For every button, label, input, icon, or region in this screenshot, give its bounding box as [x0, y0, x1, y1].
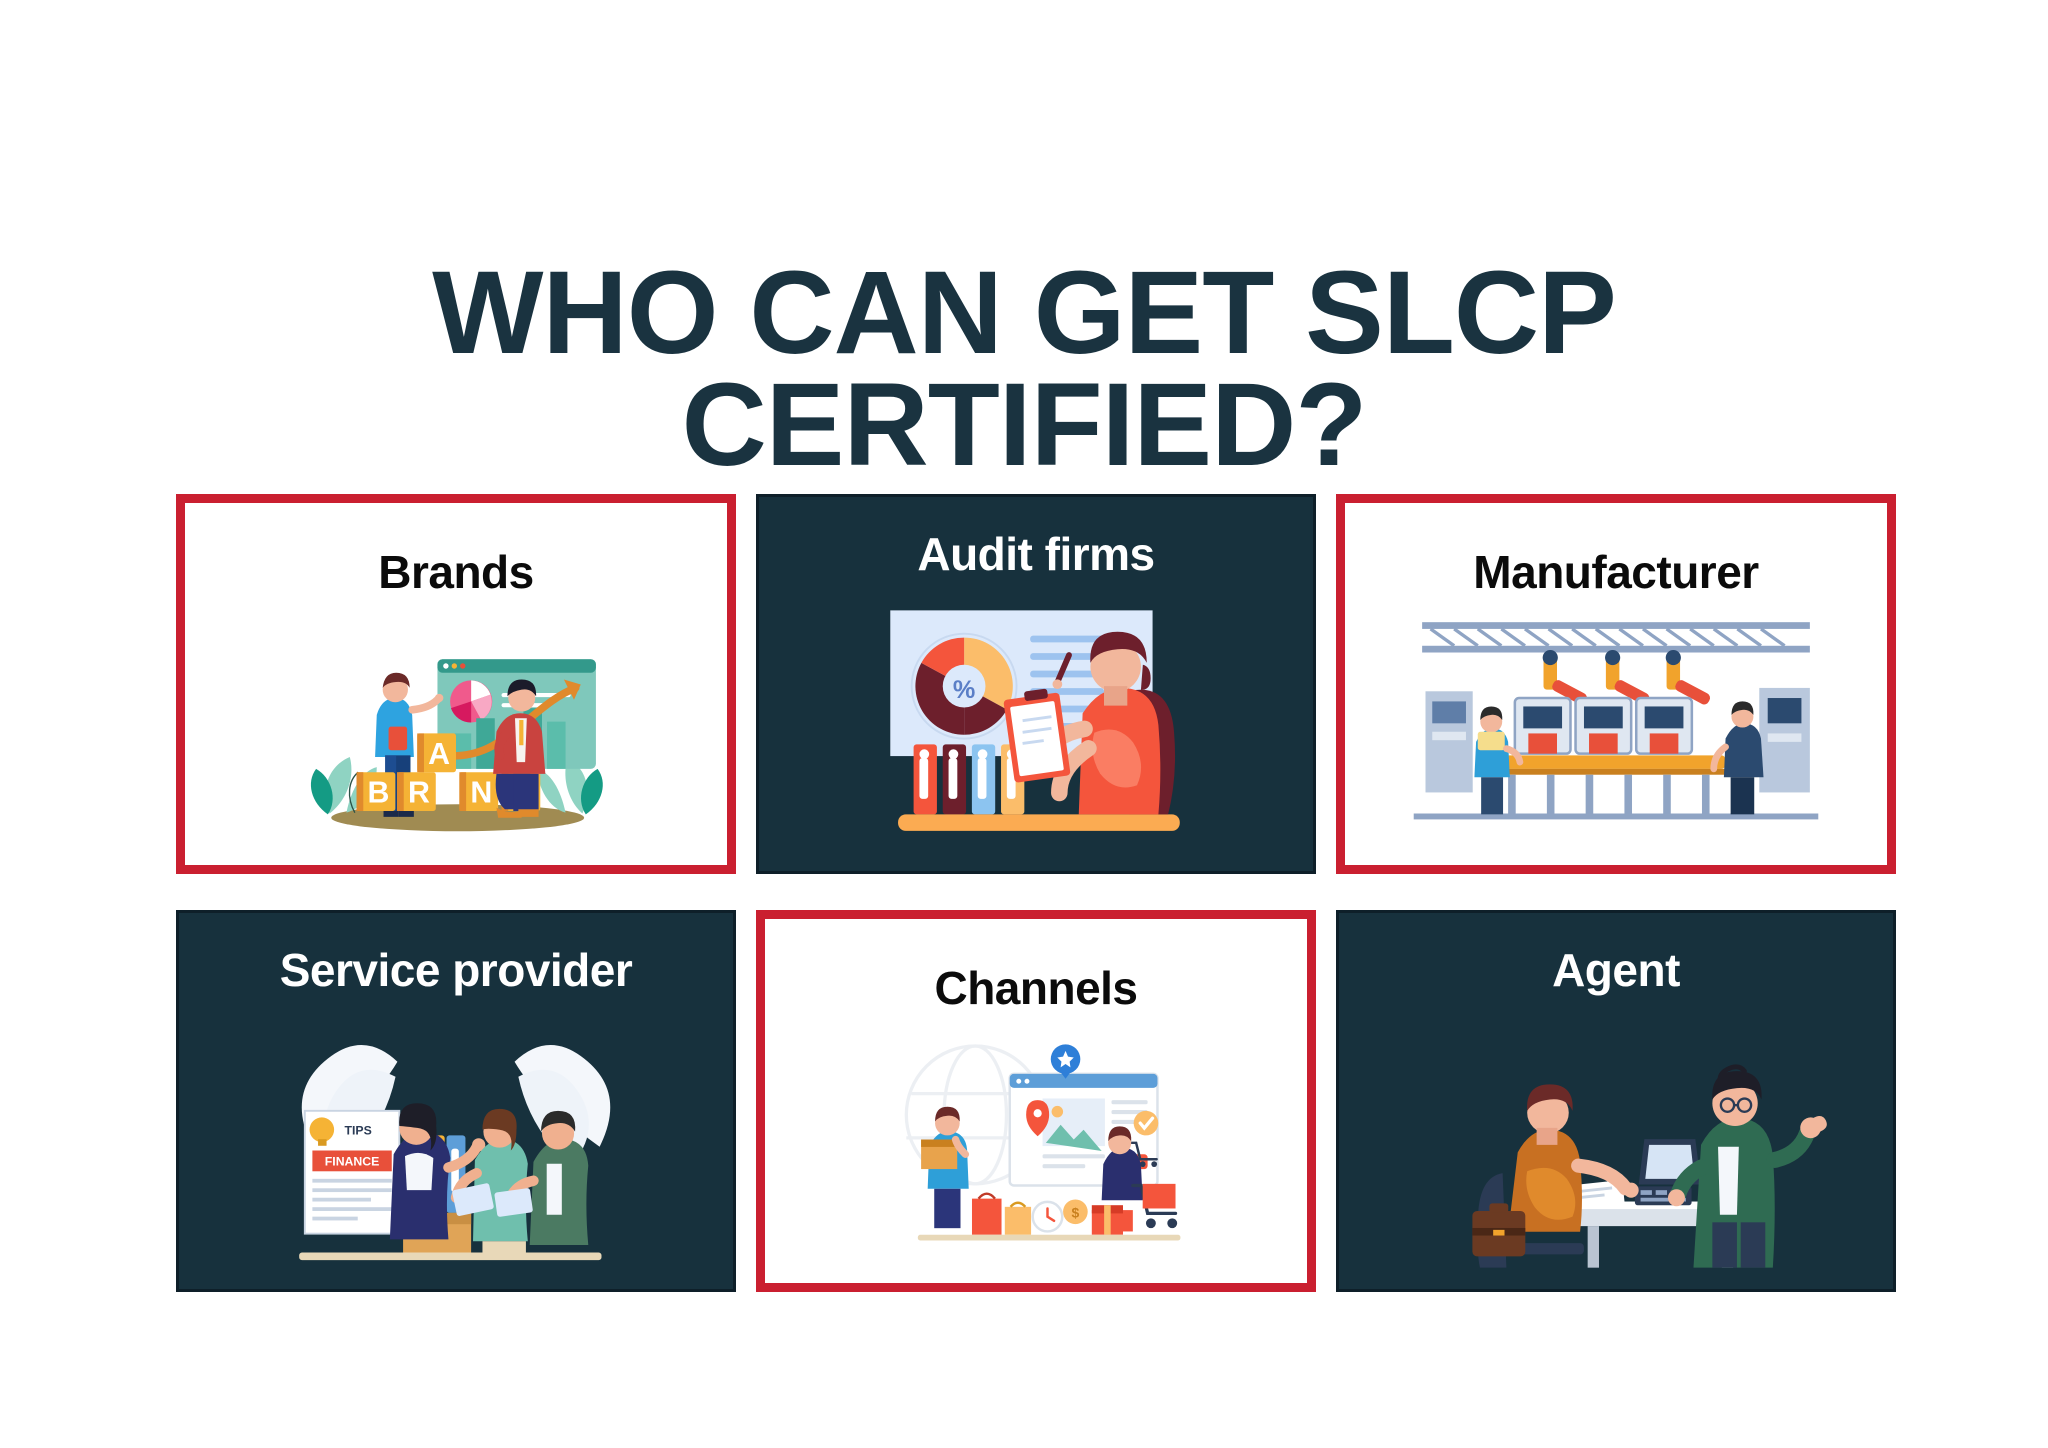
consultants-documents-illustration: TIPS FINANCE: [179, 1005, 733, 1279]
infographic-page: WHO CAN GET SLCP CERTIFIED? Brands: [0, 0, 2048, 1448]
card-brands-label: Brands: [197, 545, 715, 599]
card-audit-firms-inner: Audit firms %: [759, 497, 1313, 871]
card-brands-inner: Brands: [194, 512, 718, 856]
card-agent-label: Agent: [1339, 943, 1893, 997]
card-manufacturer[interactable]: Manufacturer: [1336, 494, 1896, 874]
card-channels-label: Channels: [777, 961, 1295, 1015]
brand-analytics-illustration: B R A N D: [197, 607, 715, 843]
card-audit-firms[interactable]: Audit firms %: [756, 494, 1316, 874]
card-manufacturer-inner: Manufacturer: [1354, 512, 1878, 856]
card-channels-inner: Channels: [774, 928, 1298, 1274]
card-agent[interactable]: Agent: [1336, 910, 1896, 1292]
page-title: WHO CAN GET SLCP CERTIFIED?: [0, 257, 2048, 481]
card-grid: Brands: [176, 494, 1896, 1292]
card-manufacturer-label: Manufacturer: [1357, 545, 1875, 599]
card-brands[interactable]: Brands: [176, 494, 736, 874]
factory-robot-assembly-line-illustration: [1357, 607, 1875, 843]
card-channels[interactable]: Channels: [756, 910, 1316, 1292]
card-agent-inner: Agent: [1339, 913, 1893, 1289]
card-service-provider[interactable]: Service provider TIPS FINA: [176, 910, 736, 1292]
svg-text:$: $: [1072, 1205, 1080, 1221]
svg-text:TIPS: TIPS: [345, 1123, 372, 1137]
agent-desk-meeting-illustration: [1339, 1005, 1893, 1279]
svg-text:R: R: [408, 777, 430, 810]
card-audit-firms-label: Audit firms: [759, 527, 1313, 581]
card-service-provider-label: Service provider: [179, 943, 733, 997]
card-service-provider-inner: Service provider TIPS FINA: [179, 913, 733, 1289]
svg-text:B: B: [368, 777, 390, 810]
title-line-2: CERTIFIED?: [0, 369, 2048, 481]
svg-text:FINANCE: FINANCE: [325, 1155, 380, 1169]
auditor-chart-clipboard-illustration: %: [759, 589, 1313, 861]
ecommerce-globe-storefront-illustration: $: [777, 1023, 1295, 1261]
svg-text:N: N: [470, 777, 492, 810]
svg-text:%: %: [953, 676, 975, 704]
svg-text:A: A: [428, 738, 450, 771]
